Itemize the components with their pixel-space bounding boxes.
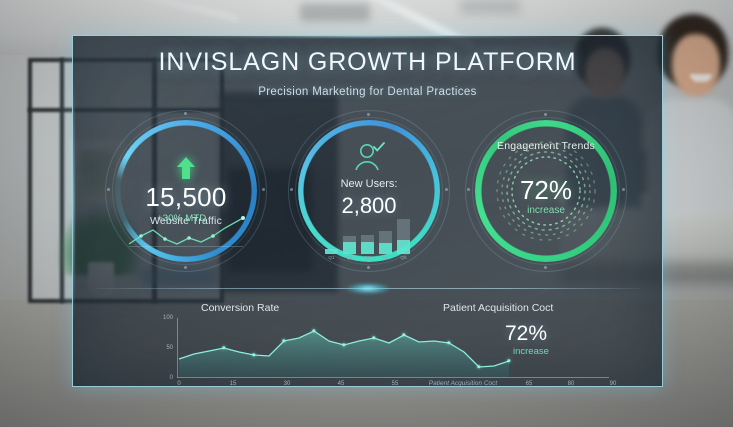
patient-acquisition-sub: increase [513,346,549,357]
divider-glow-node [346,283,390,294]
svg-text:Q2: Q2 [346,255,353,260]
gauge-value: 15,500 [145,182,226,213]
gauge-engagement-trends[interactable]: Engagement Trends 72% increase [465,110,627,272]
gauge-value: 2,800 [288,193,450,219]
gauge-value: 72% [520,175,572,206]
x-tick-label: 65 [526,381,533,387]
svg-text:Q4: Q4 [382,255,389,260]
svg-text:Q5: Q5 [400,255,407,260]
svg-text:Q3: Q3 [364,255,371,260]
x-tick-label: 90 [610,381,617,387]
dial-tick [367,113,370,116]
x-tick-label: 0 [177,381,180,387]
gauge-label: New Users: [288,178,450,190]
dashboard-panel: INVISLAGN GROWTH PLATFORM Precision Mark… [72,35,663,387]
sparkline-baseline [129,246,243,247]
gauge-new-users[interactable]: New Users: 2,800 Q1 Q2 Q3 Q4 Q5 [288,110,450,272]
svg-text:Q1: Q1 [328,255,335,260]
gauge-delta: +30% MTD [157,213,206,224]
page-title: INVISLAGN GROWTH PLATFORM [73,48,662,77]
gauge-bar-chart: Q1 Q2 Q3 Q4 Q5 [321,218,417,260]
x-tick-label: 30 [284,381,291,387]
gauge-website-traffic[interactable]: 15,500 Website Traffic +30% MTD [105,110,267,272]
x-tick-label: 15 [230,381,237,387]
user-check-icon [352,140,386,174]
y-tick-label: 50 [166,345,173,351]
x-axis-inline-label: Patient Acquisition Coct [429,380,497,387]
x-axis-ticks: 0 15 30 45 55 Patient Acquisition Coct 6… [177,378,609,387]
x-tick-label: 80 [568,381,575,387]
y-tick-label: 0 [170,375,173,381]
page-subtitle: Precision Marketing for Dental Practices [73,86,662,98]
gauge-sublabel: increase [527,205,565,216]
patient-acquisition-label: Patient Acquisition Coct [443,302,553,314]
kpi-gauge-row: 15,500 Website Traffic +30% MTD [73,110,662,280]
conversion-rate-chart[interactable]: 100 50 0 [177,318,517,378]
dial-tick [367,266,370,269]
up-arrow-icon [175,156,197,180]
x-tick-label: 45 [338,381,345,387]
y-tick-label: 100 [163,315,173,321]
conversion-rate-label: Conversion Rate [201,302,279,314]
panel-top-glow [179,35,556,37]
x-tick-label: 55 [392,381,399,387]
bottom-chart-section: Conversion Rate Patient Acquisition Coct… [73,294,662,386]
area-series [177,318,517,378]
